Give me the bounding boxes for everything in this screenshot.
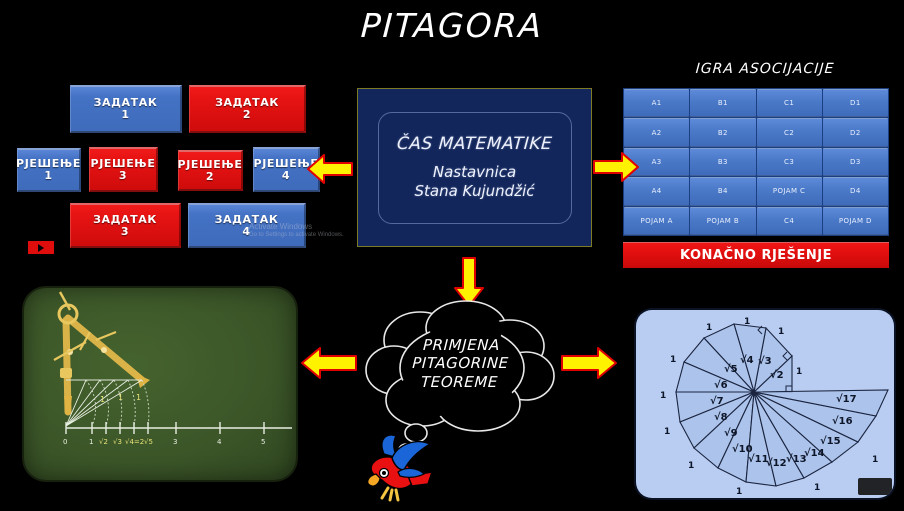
spiral-label-sqrt15: √15 — [820, 435, 841, 447]
spiral-label-sqrt17: √17 — [836, 393, 857, 405]
assoc-game-heading: IGRA ASOCIJACIJE — [619, 61, 904, 77]
task-number: 2 — [243, 109, 251, 121]
assoc-cell-c1[interactable]: C1 — [757, 89, 822, 117]
spiral-of-theodorus-panel[interactable]: √2 √3 √4 √5 √6 √7 √8 √9 √10 √11 √12 √13 … — [636, 310, 894, 498]
arrow-to-chalkboard — [300, 345, 358, 381]
assoc-cell-c3[interactable]: C3 — [757, 148, 822, 176]
spiral-label-sqrt6: √6 — [714, 379, 728, 391]
segment-label-1: 1 — [100, 395, 105, 404]
axis-label-4: 4 — [217, 438, 222, 446]
parrot-illustration — [362, 428, 442, 506]
spiral-unit-label: 1 — [778, 327, 784, 337]
assoc-cell-b4[interactable]: B4 — [690, 177, 755, 205]
axis-label-sqrt4: √4=2 — [125, 438, 144, 446]
axis-label-5: 5 — [261, 438, 265, 446]
spiral-label-sqrt5: √5 — [724, 363, 738, 375]
task-button-2[interactable]: ЗАДАТАК 2 — [189, 85, 306, 133]
teacher-block: Nastavnica Stana Kujundžić — [415, 163, 535, 201]
spiral-label-sqrt2: √2 — [770, 369, 784, 381]
axis-label-sqrt2: √2 — [99, 438, 108, 446]
spiral-unit-label: 1 — [796, 367, 802, 377]
spiral-label-sqrt16: √16 — [832, 415, 853, 427]
lesson-title-inner: ČAS MATEMATIKE Nastavnica Stana Kujundži… — [378, 112, 572, 224]
task-button-1[interactable]: ЗАДАТАК 1 — [70, 85, 182, 133]
solution-button-1[interactable]: РЈЕШЕЊЕ 1 — [17, 148, 81, 192]
play-triangle-icon — [38, 244, 44, 252]
solution-button-2[interactable]: РЈЕШЕЊЕ 2 — [178, 150, 243, 191]
assoc-cell-pojam-c[interactable]: POJAM C — [757, 177, 822, 205]
spiral-label-sqrt7: √7 — [710, 395, 724, 407]
cloud-line-3: TEOREME — [357, 373, 563, 391]
watermark-title: Activate Windows — [249, 222, 369, 231]
assoc-cell-d4[interactable]: D4 — [823, 177, 888, 205]
chalkboard-panel[interactable]: 0 1 √2 √3 √4=2 √5 3 4 5 1 1 1 — [24, 288, 296, 480]
solution-number: 2 — [206, 171, 214, 183]
lesson-heading: ČAS MATEMATIKE — [396, 134, 553, 154]
axis-label-sqrt5: √5 — [144, 438, 153, 446]
teacher-name: Stana Kujundžić — [415, 182, 535, 201]
spiral-unit-label: 1 — [744, 317, 750, 327]
assoc-cell-c2[interactable]: C2 — [757, 118, 822, 146]
task-number: 1 — [121, 109, 129, 121]
assoc-cell-d1[interactable]: D1 — [823, 89, 888, 117]
arrow-to-tasks — [306, 152, 354, 186]
assoc-cell-b1[interactable]: B1 — [690, 89, 755, 117]
spiral-unit-label: 1 — [736, 487, 742, 497]
teacher-role: Nastavnica — [415, 163, 535, 182]
spiral-label-sqrt4: √4 — [740, 354, 754, 366]
windows-activation-watermark: Activate Windows Go to Settings to activ… — [249, 222, 369, 238]
spiral-label-sqrt9: √9 — [724, 427, 738, 439]
axis-label-0: 0 — [63, 438, 67, 446]
axis-label-sqrt3: √3 — [113, 438, 122, 446]
assoc-cell-pojam-d[interactable]: POJAM D — [823, 207, 888, 235]
assoc-cell-d2[interactable]: D2 — [823, 118, 888, 146]
spiral-unit-label: 1 — [660, 391, 666, 401]
page-title: PITAGORA — [0, 6, 904, 45]
spiral-label-sqrt3: √3 — [758, 355, 772, 367]
cloud-text: PRIMJENA PITAGORINE TEOREME — [357, 336, 565, 391]
solution-number: 1 — [44, 170, 52, 182]
solution-number: 3 — [119, 170, 127, 182]
assoc-cell-pojam-a[interactable]: POJAM A — [624, 207, 689, 235]
spiral-unit-label: 1 — [688, 461, 694, 471]
spiral-unit-label: 1 — [670, 355, 676, 365]
assoc-cell-d3[interactable]: D3 — [823, 148, 888, 176]
assoc-cell-pojam-b[interactable]: POJAM B — [690, 207, 755, 235]
cloud-line-2: PITAGORINE — [358, 354, 564, 372]
solution-button-3[interactable]: РЈЕШЕЊЕ 3 — [89, 147, 158, 192]
play-button[interactable] — [28, 241, 54, 254]
axis-label-1: 1 — [89, 438, 93, 446]
axis-label-3: 3 — [173, 438, 177, 446]
solution-label: РЈЕШЕЊЕ — [178, 159, 243, 171]
spiral-unit-label: 1 — [664, 427, 670, 437]
arrow-to-assoc-game — [592, 150, 640, 184]
assoc-cell-b3[interactable]: B3 — [690, 148, 755, 176]
lesson-title-panel[interactable]: ČAS MATEMATIKE Nastavnica Stana Kujundži… — [357, 88, 592, 247]
assoc-cell-a1[interactable]: A1 — [624, 89, 689, 117]
spiral-watermark-badge — [858, 478, 892, 495]
segment-label-2: 1 — [118, 393, 123, 402]
assoc-game-grid: A1 B1 C1 D1 A2 B2 C2 D2 A3 B3 C3 D3 A4 B… — [623, 88, 889, 236]
spiral-unit-label: 1 — [706, 323, 712, 333]
cloud-line-1: PRIMJENA — [358, 336, 564, 354]
final-solution-button[interactable]: KONAČNO RJEŠENJE — [623, 242, 889, 268]
solution-label: РЈЕШЕЊЕ — [91, 158, 156, 170]
task-button-3[interactable]: ЗАДАТАК 3 — [70, 203, 181, 248]
assoc-cell-a2[interactable]: A2 — [624, 118, 689, 146]
solution-number: 4 — [282, 170, 290, 182]
spiral-label-sqrt12: √12 — [766, 457, 787, 469]
assoc-cell-c4[interactable]: C4 — [757, 207, 822, 235]
watermark-subtitle: Go to Settings to activate Windows. — [249, 232, 369, 238]
spiral-unit-label: 1 — [814, 483, 820, 493]
task-label: ЗАДАТАК — [93, 214, 157, 226]
arrow-to-spiral — [560, 345, 618, 381]
assoc-cell-b2[interactable]: B2 — [690, 118, 755, 146]
task-number: 3 — [121, 226, 129, 238]
spiral-label-sqrt8: √8 — [714, 411, 728, 423]
spiral-unit-label: 1 — [872, 455, 878, 465]
spiral-label-sqrt14: √14 — [804, 447, 825, 459]
segment-label-3: 1 — [136, 393, 141, 402]
